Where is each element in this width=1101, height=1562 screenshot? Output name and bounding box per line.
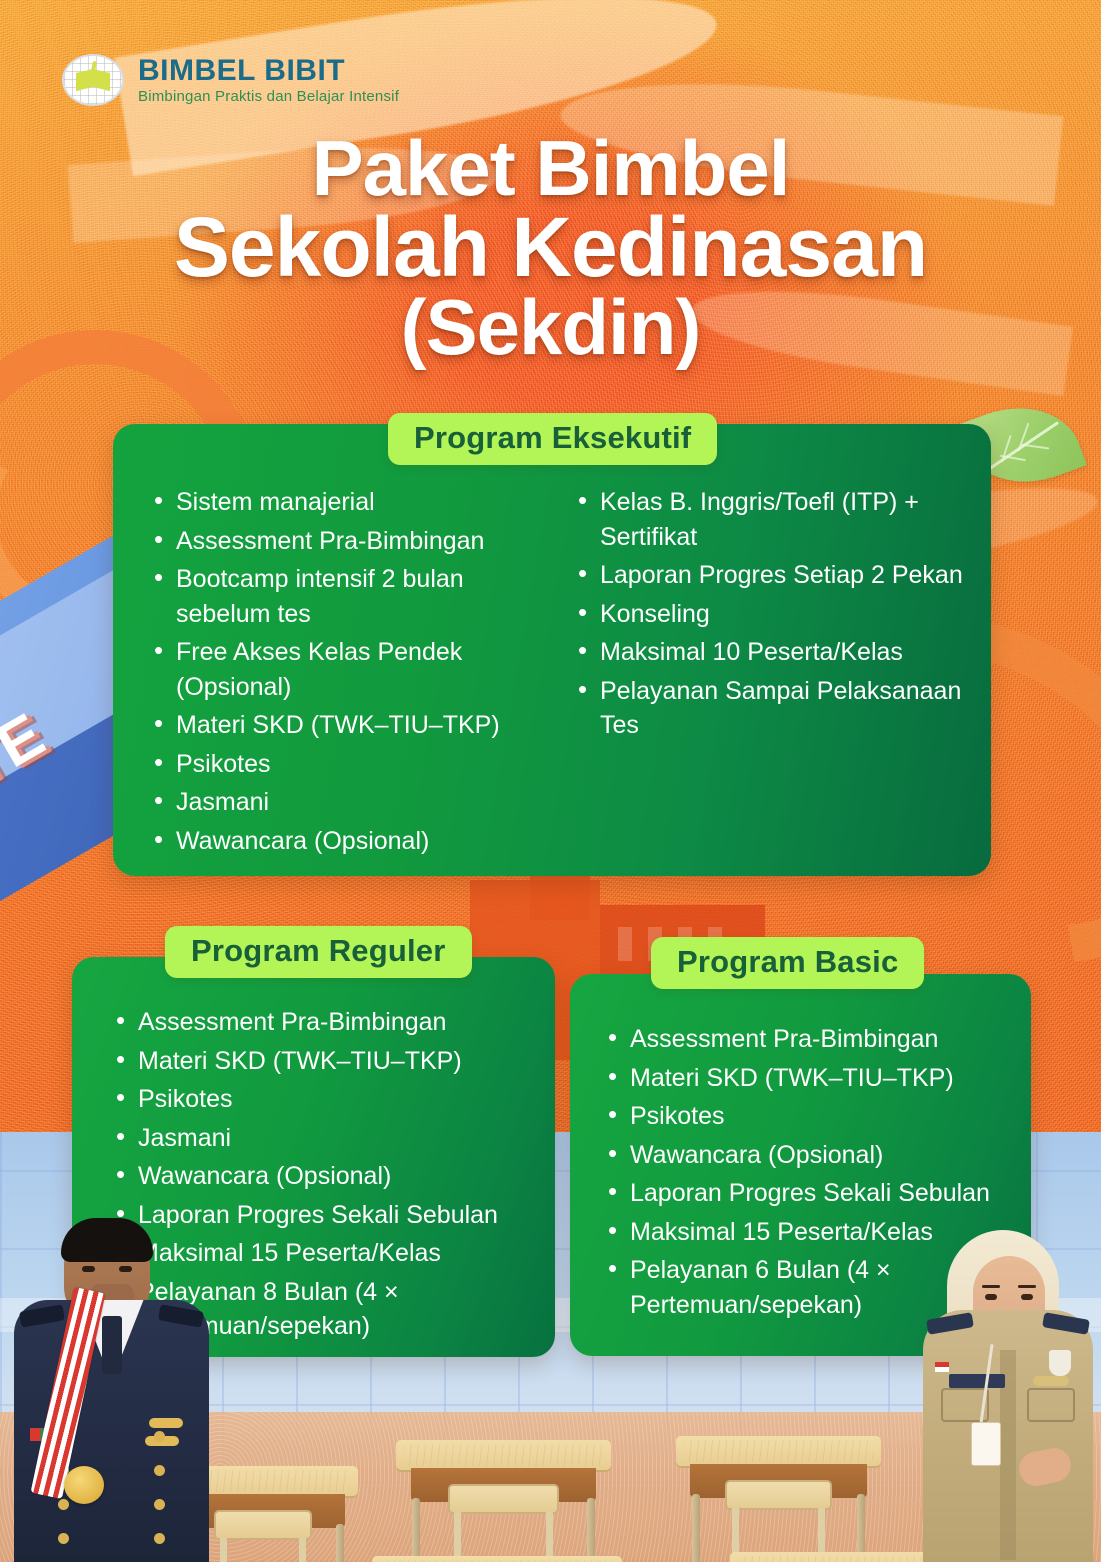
list-item: Maksimal 10 Peserta/Kelas: [572, 635, 972, 670]
brand-name: BIMBEL BIBIT: [138, 56, 399, 86]
program-list-eksekutif-right: Kelas B. Inggris/Toefl (ITP) + Sertifika…: [572, 485, 972, 747]
poster-canvas: MATE BIMBEL BIBIT Bimbingan Praktis dan …: [0, 0, 1101, 1562]
list-item: Psikotes: [602, 1099, 1027, 1134]
brand-tagline: Bimbingan Praktis dan Belajar Intensif: [138, 89, 399, 104]
list-item: Laporan Progres Setiap 2 Pekan: [572, 558, 972, 593]
list-item: Materi SKD (TWK–TIU–TKP): [110, 1044, 540, 1079]
list-item: Sistem manajerial: [148, 485, 548, 520]
list-item: Materi SKD (TWK–TIU–TKP): [148, 708, 548, 743]
list-item: Jasmani: [110, 1121, 540, 1156]
list-item: Assessment Pra-Bimbingan: [148, 524, 548, 559]
female-officer-photo: [909, 1200, 1099, 1562]
poster-title: Paket Bimbel Sekolah Kedinasan (Sekdin): [0, 130, 1101, 365]
program-list-eksekutif-left: Sistem manajerial Assessment Pra-Bimbing…: [148, 485, 548, 862]
title-line-3: (Sekdin): [0, 289, 1101, 365]
title-line-2: Sekolah Kedinasan: [0, 206, 1101, 288]
list-item: Wawancara (Opsional): [148, 824, 548, 859]
list-item: Assessment Pra-Bimbingan: [602, 1022, 1027, 1057]
program-badge-basic: Program Basic: [651, 937, 924, 989]
list-item: Wawancara (Opsional): [602, 1138, 1027, 1173]
brand-logo: BIMBEL BIBIT Bimbingan Praktis dan Belaj…: [62, 54, 399, 106]
list-item: Materi SKD (TWK–TIU–TKP): [602, 1061, 1027, 1096]
list-item: Assessment Pra-Bimbingan: [110, 1005, 540, 1040]
program-badge-reguler: Program Reguler: [165, 926, 472, 978]
list-item: Kelas B. Inggris/Toefl (ITP) + Sertifika…: [572, 485, 972, 554]
list-item: Jasmani: [148, 785, 548, 820]
list-item: Free Akses Kelas Pendek (Opsional): [148, 635, 548, 704]
program-badge-eksekutif: Program Eksekutif: [388, 413, 717, 465]
list-item: Bootcamp intensif 2 bulan sebelum tes: [148, 562, 548, 631]
list-item: Wawancara (Opsional): [110, 1159, 540, 1194]
male-cadet-photo: [6, 1190, 216, 1562]
title-line-1: Paket Bimbel: [0, 130, 1101, 206]
list-item: Konseling: [572, 597, 972, 632]
book-emblem-icon: [62, 54, 124, 106]
list-item: Pelayanan Sampai Pelaksanaan Tes: [572, 674, 972, 743]
list-item: Psikotes: [110, 1082, 540, 1117]
list-item: Psikotes: [148, 747, 548, 782]
